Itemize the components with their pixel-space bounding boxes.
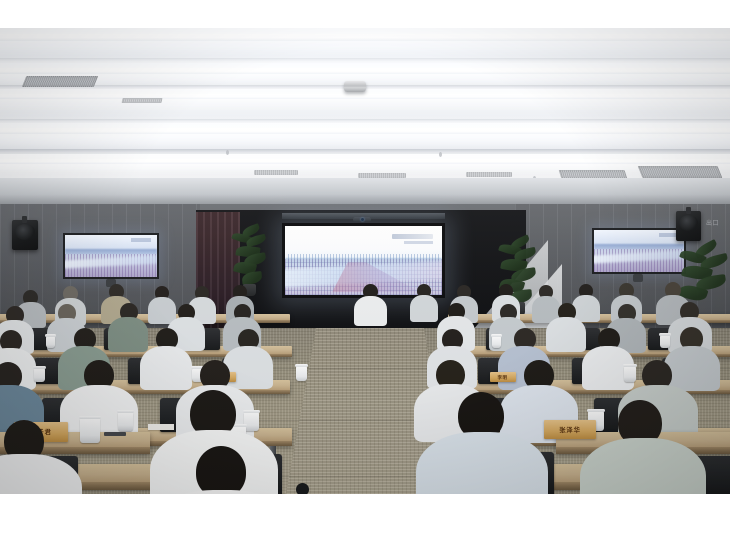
left-wall-speaker [12, 220, 38, 250]
teacup-r3-4 [624, 366, 636, 382]
handout-r4 [148, 424, 174, 430]
cup-lid [587, 409, 605, 412]
teacup-r4-1 [118, 412, 133, 431]
ceiling-vent-3 [254, 170, 298, 175]
teacup-r3-3 [296, 366, 307, 381]
left-side-display[interactable] [63, 233, 159, 279]
torso [664, 346, 720, 391]
screen-watermark-logo [392, 234, 433, 239]
bottom-letterbox [0, 494, 730, 548]
ceiling-vent-far-right [638, 166, 723, 178]
teacup-front-left [80, 418, 100, 443]
ceiling-smoke-detector [344, 81, 366, 92]
main-screen-content [285, 226, 442, 295]
teacup-r2-4 [660, 335, 670, 348]
front-right-name-card: 张泽华 [544, 420, 596, 439]
teacup-r2-1 [46, 336, 55, 348]
torso [416, 432, 548, 494]
torso [410, 295, 438, 322]
light-tube-3 [0, 94, 730, 99]
cup-lid [295, 364, 308, 367]
cup-lid [79, 416, 101, 419]
screenshot-root: 出口 [0, 0, 730, 548]
ceiling-strip-4 [0, 123, 730, 149]
torso [140, 346, 192, 390]
left-display-logo [131, 238, 151, 241]
torso [354, 296, 387, 326]
cup-lid [659, 333, 671, 336]
cup-lid [45, 334, 56, 337]
teacup-r2-3 [492, 336, 501, 348]
teacup-r4-2 [244, 412, 259, 431]
chair-wheel-r4-l [296, 483, 309, 494]
cup-lid [33, 366, 46, 369]
front-right-name-card-text: 张泽华 [559, 425, 581, 434]
ceiling-vent-5 [466, 172, 512, 177]
ceiling-sprinkler-3 [439, 152, 442, 157]
right-display-mount [633, 274, 643, 282]
left-display-content [65, 235, 157, 277]
screen-watermark-underline [404, 241, 432, 244]
right-side-display[interactable] [592, 228, 686, 274]
top-letterbox [0, 0, 730, 28]
teacup-r3-1 [34, 368, 45, 382]
exit-sign-label: 出口 [706, 218, 719, 227]
light-tube-4 [0, 128, 730, 134]
desk-microphone [104, 432, 126, 436]
cup-lid [243, 410, 260, 413]
ceiling-vent-2 [121, 98, 162, 103]
ceiling-strip-1 [0, 28, 730, 58]
mid-right-name-card: 李明 [490, 372, 516, 382]
torso [223, 346, 273, 389]
conference-camera-icon [353, 217, 371, 222]
right-wall-speaker [676, 211, 701, 241]
ceiling-sprinkler-1 [226, 150, 229, 155]
mid-right-name-card-text: 李明 [498, 374, 508, 380]
cup-lid [623, 364, 637, 367]
left-speaker-bracket [22, 216, 27, 223]
cup-lid [117, 410, 134, 413]
torso [108, 317, 148, 352]
right-display-content [594, 230, 684, 272]
conference-room-photo: 出口 [0, 28, 730, 494]
light-tube-5 [0, 159, 730, 164]
cup-lid [491, 334, 502, 337]
torso [546, 317, 586, 352]
ceiling-vent-left [22, 76, 98, 87]
torso [580, 438, 706, 494]
light-tube-1 [0, 34, 730, 41]
table-edge [0, 390, 290, 394]
right-speaker-bracket [686, 207, 691, 214]
light-tube-2 [0, 68, 730, 74]
head [196, 446, 246, 494]
